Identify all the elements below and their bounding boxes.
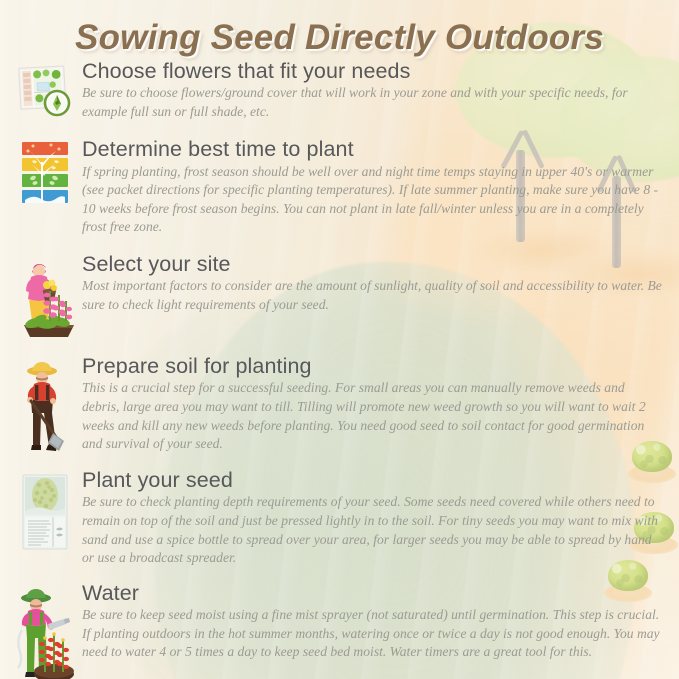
step-icon-wrapper [12,60,78,118]
step-determine-time: Determine best time to plant If spring p… [0,138,679,237]
step-icon-wrapper [12,469,78,545]
step-title: Choose flowers that fit your needs [82,60,665,83]
step-title: Plant your seed [82,469,665,492]
four-seasons-icon [21,142,69,206]
gardener-planting-flowers-icon [16,257,74,339]
step-body: Be sure to check planting depth requirem… [82,493,665,567]
step-text: Determine best time to plant If spring p… [78,138,665,237]
seed-packet-icon [19,473,71,545]
gardener-watering-icon [14,586,76,679]
step-text: Water Be sure to keep seed moist using a… [78,582,665,662]
step-icon-wrapper [12,138,78,206]
step-text: Choose flowers that fit your needs Be su… [78,60,665,121]
step-icon-wrapper [12,582,78,679]
step-text: Plant your seed Be sure to check plantin… [78,469,665,568]
step-text: Select your site Most important factors … [78,253,665,314]
step-title: Water [82,582,665,605]
step-title: Select your site [82,253,665,276]
step-body: Most important factors to consider are t… [82,277,665,314]
step-prepare-soil: Prepare soil for planting This is a cruc… [0,355,679,455]
page-title: Sowing Seed Directly Outdoors [0,18,679,58]
step-icon-wrapper [12,253,78,339]
step-title: Determine best time to plant [82,138,665,161]
step-choose-flowers: Choose flowers that fit your needs Be su… [0,60,679,121]
step-icon-wrapper [12,355,78,455]
step-body: Be sure to choose flowers/ground cover t… [82,84,665,121]
step-select-site: Select your site Most important factors … [0,253,679,339]
step-body: This is a crucial step for a successful … [82,379,665,453]
garden-plan-compass-icon [17,64,73,118]
step-water: Water Be sure to keep seed moist using a… [0,582,679,679]
infographic-poster: Sowing Seed Directly Outdoors [0,0,679,679]
gardener-with-shovel-icon [17,359,73,455]
step-title: Prepare soil for planting [82,355,665,378]
steps-list: Choose flowers that fit your needs Be su… [0,60,679,679]
step-plant-seed: Plant your seed Be sure to check plantin… [0,469,679,568]
step-body: Be sure to keep seed moist using a fine … [82,606,665,662]
step-body: If spring planting, frost season should … [82,163,665,237]
step-text: Prepare soil for planting This is a cruc… [78,355,665,454]
